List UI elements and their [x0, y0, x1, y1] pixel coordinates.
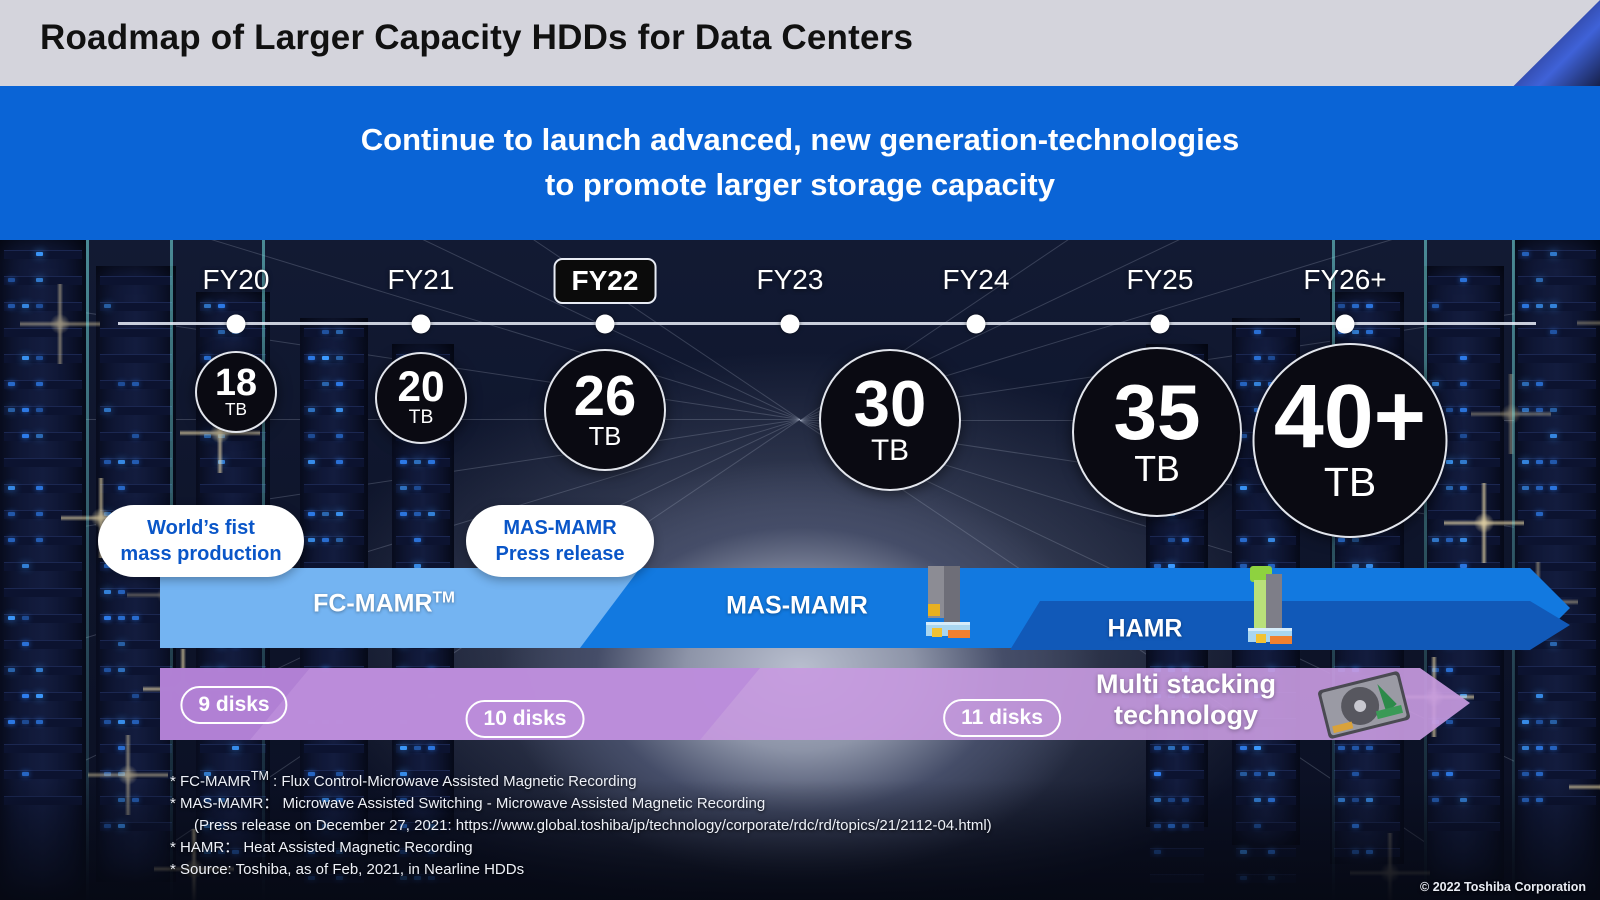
- footnote-fc-mamr: * FC-MAMRTM : Flux Control-Microwave Ass…: [170, 767, 992, 793]
- multi-stacking-line-1: Multi stacking: [1066, 669, 1306, 700]
- copyright-notice: © 2022 Toshiba Corporation: [1420, 880, 1586, 894]
- callout-bubble-1[interactable]: World’s fistmass production: [98, 505, 304, 577]
- multi-stacking-annotation: Multi stacking technology: [1066, 669, 1306, 731]
- tech-band-name: FC-MAMR: [313, 590, 432, 618]
- hdd-laser-head-icon: [1230, 564, 1308, 658]
- callout-bubble-2[interactable]: MAS-MAMRPress release: [466, 505, 654, 577]
- tech-band-name: HAMR: [1108, 615, 1183, 643]
- hard-disk-drive-icon: [1312, 668, 1416, 742]
- fc-mamr-label: FC-MAMRTM: [313, 589, 455, 618]
- bubble-line-2: Press release: [495, 541, 624, 567]
- tech-bar-shapes: [0, 0, 1600, 900]
- disk-count-pill-9[interactable]: 9 disks: [180, 686, 287, 724]
- footnote-hamr: * HAMR： Heat Assisted Magnetic Recording: [170, 837, 992, 859]
- bubble-line-1: MAS-MAMR: [503, 515, 616, 541]
- trademark-symbol: TM: [433, 589, 455, 606]
- bubble-line-1: World’s fist: [147, 515, 255, 541]
- footnote-source: * Source: Toshiba, as of Feb, 2021, in N…: [170, 859, 992, 881]
- multi-stacking-line-2: technology: [1066, 700, 1306, 731]
- mas-mamr-label: MAS-MAMR: [726, 592, 868, 621]
- footnotes: * FC-MAMRTM : Flux Control-Microwave Ass…: [170, 767, 992, 881]
- bubble-line-2: mass production: [120, 541, 281, 567]
- tech-band-name: MAS-MAMR: [726, 592, 868, 620]
- hamr-label: HAMR: [1108, 615, 1183, 644]
- disk-count-pill-11[interactable]: 11 disks: [943, 699, 1061, 737]
- footnote-press-release: (Press release on December 27, 2021: htt…: [170, 815, 992, 837]
- disk-count-pill-10[interactable]: 10 disks: [466, 700, 585, 738]
- technology-bars: FC-MAMRTM MAS-MAMR HAMR: [0, 0, 1600, 900]
- hdd-write-head-icon: [908, 562, 986, 648]
- footnote-mas-mamr: * MAS-MAMR： Microwave Assisted Switching…: [170, 793, 992, 815]
- slide-root: Roadmap of Larger Capacity HDDs for Data…: [0, 0, 1600, 900]
